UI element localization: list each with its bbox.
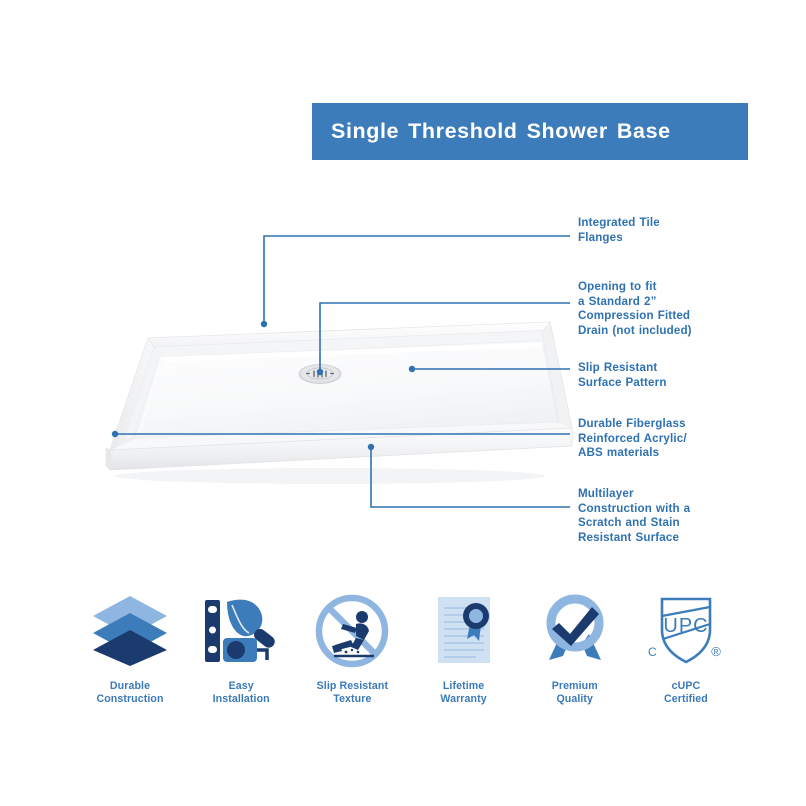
feature-premium-quality: Premium Quality [523,592,627,707]
feature-label: Durable Construction [96,680,163,707]
tools-icon [201,592,281,670]
feature-lifetime-warranty: Lifetime Warranty [412,592,516,707]
page-title: Single Threshold Shower Base [331,119,671,144]
upc-shield-icon: UPC C ® [642,592,730,670]
feature-label: Slip Resistant Texture [317,680,388,707]
callout-multilayer-construction: Multilayer Construction with a Scratch a… [578,487,690,545]
page-title-banner: Single Threshold Shower Base [312,103,748,160]
shower-base-illustration [80,300,580,490]
shield-left-mark: C [648,645,657,659]
certificate-icon [424,592,504,670]
feature-label: Lifetime Warranty [440,680,486,707]
feature-label: Easy Installation [213,680,270,707]
feature-durable-construction: Durable Construction [78,592,182,707]
feature-easy-installation: Easy Installation [189,592,293,707]
shower-base-body [106,322,572,470]
feature-label: Premium Quality [552,680,598,707]
callout-integrated-tile-flanges: Integrated Tile Flanges [578,216,660,245]
rosette-icon [535,592,615,670]
feature-badges-row: Durable Construction Easy Installati [78,592,738,717]
drain-assembly [299,365,341,384]
feature-label: cUPC Certified [664,680,708,707]
layers-icon [90,592,170,670]
callout-drain-opening: Opening to fit a Standard 2” Compression… [578,280,692,338]
feature-cupc-certified: UPC C ® cUPC Certified [634,592,738,707]
product-shadow [115,468,545,484]
callout-slip-resistant-surface: Slip Resistant Surface Pattern [578,361,667,390]
shield-text: UPC [663,615,708,637]
feature-slip-resistant: Slip Resistant Texture [300,592,404,707]
no-slip-icon [312,592,392,670]
callout-durable-materials: Durable Fiberglass Reinforced Acrylic/ A… [578,417,687,461]
shield-right-mark: ® [711,644,721,659]
